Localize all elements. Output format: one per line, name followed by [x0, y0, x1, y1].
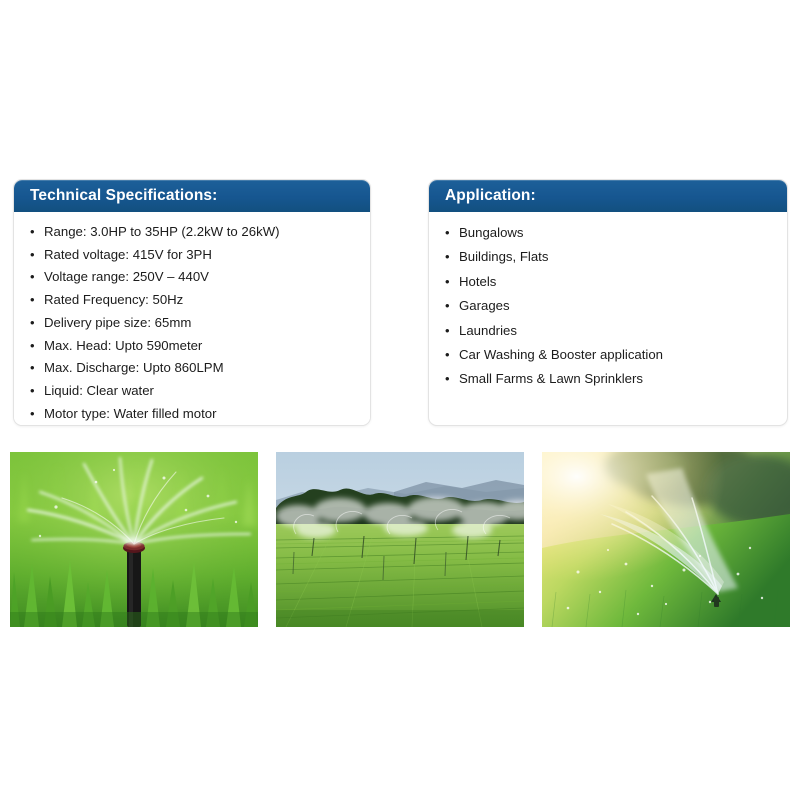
application-list: Bungalows Buildings, Flats Hotels Garage…: [443, 221, 775, 392]
list-item: Delivery pipe size: 65mm: [28, 312, 358, 335]
photo-field-irrigation: [276, 452, 524, 627]
panel-title: Technical Specifications:: [30, 188, 217, 204]
application-header: Application:: [429, 180, 787, 212]
technical-specifications-header: Technical Specifications:: [14, 180, 370, 212]
technical-specifications-panel: Technical Specifications: Range: 3.0HP t…: [13, 179, 371, 426]
panel-title: Application:: [445, 188, 536, 204]
list-item: Max. Discharge: Upto 860LPM: [28, 357, 358, 380]
list-item: Rated voltage: 415V for 3PH: [28, 244, 358, 267]
application-body: Bungalows Buildings, Flats Hotels Garage…: [429, 212, 787, 402]
photo-sunlit-lawn-sprinkler: [542, 452, 790, 627]
list-item: Laundries: [443, 319, 775, 343]
list-item: Voltage range: 250V – 440V: [28, 266, 358, 289]
list-item: Buildings, Flats: [443, 245, 775, 269]
list-item: Small Farms & Lawn Sprinklers: [443, 367, 775, 391]
list-item: Rated Frequency: 50Hz: [28, 289, 358, 312]
list-item: Max. Head: Upto 590meter: [28, 335, 358, 358]
spec-sheet-page: Technical Specifications: Range: 3.0HP t…: [0, 0, 800, 800]
list-item: Car Washing & Booster application: [443, 343, 775, 367]
photo-lawn-sprinkler-closeup: [10, 452, 258, 627]
list-item: Bungalows: [443, 221, 775, 245]
technical-specifications-list: Range: 3.0HP to 35HP (2.2kW to 26kW) Rat…: [28, 221, 358, 425]
technical-specifications-body: Range: 3.0HP to 35HP (2.2kW to 26kW) Rat…: [14, 212, 370, 426]
application-panel: Application: Bungalows Buildings, Flats …: [428, 179, 788, 426]
list-item: Liquid: Clear water: [28, 380, 358, 403]
list-item: Range: 3.0HP to 35HP (2.2kW to 26kW): [28, 221, 358, 244]
list-item: Motor type: Water filled motor: [28, 403, 358, 426]
list-item: Garages: [443, 294, 775, 318]
list-item: Hotels: [443, 270, 775, 294]
